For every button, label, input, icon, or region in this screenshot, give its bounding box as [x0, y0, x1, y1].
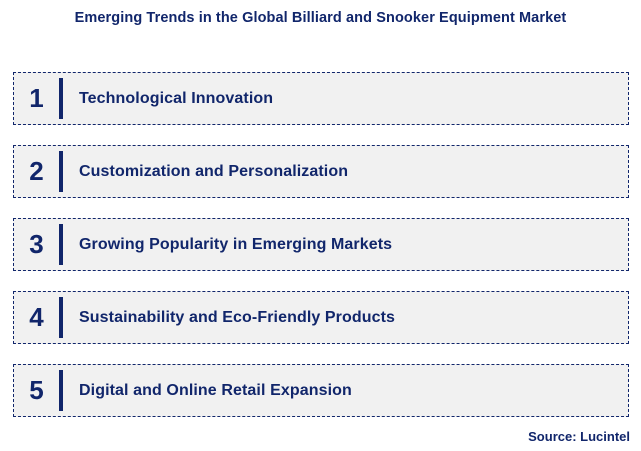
trend-label: Customization and Personalization [63, 163, 628, 181]
trend-number: 2 [14, 158, 59, 186]
trend-label: Sustainability and Eco-Friendly Products [63, 309, 628, 327]
trend-number: 5 [14, 377, 59, 405]
list-item[interactable]: 4 Sustainability and Eco-Friendly Produc… [13, 291, 629, 344]
list-item[interactable]: 3 Growing Popularity in Emerging Markets [13, 218, 629, 271]
list-item[interactable]: 2 Customization and Personalization [13, 145, 629, 198]
trend-number: 4 [14, 304, 59, 332]
trend-label: Growing Popularity in Emerging Markets [63, 236, 628, 254]
trend-label: Technological Innovation [63, 90, 628, 108]
trend-label: Digital and Online Retail Expansion [63, 382, 628, 400]
list-item[interactable]: 1 Technological Innovation [13, 72, 629, 125]
source-attribution: Source: Lucintel [528, 429, 630, 444]
trend-number: 1 [14, 85, 59, 113]
trend-list: 1 Technological Innovation 2 Customizati… [13, 72, 629, 417]
infographic-page: Emerging Trends in the Global Billiard a… [0, 0, 641, 451]
list-item[interactable]: 5 Digital and Online Retail Expansion [13, 364, 629, 417]
trend-number: 3 [14, 231, 59, 259]
page-title: Emerging Trends in the Global Billiard a… [0, 10, 641, 26]
